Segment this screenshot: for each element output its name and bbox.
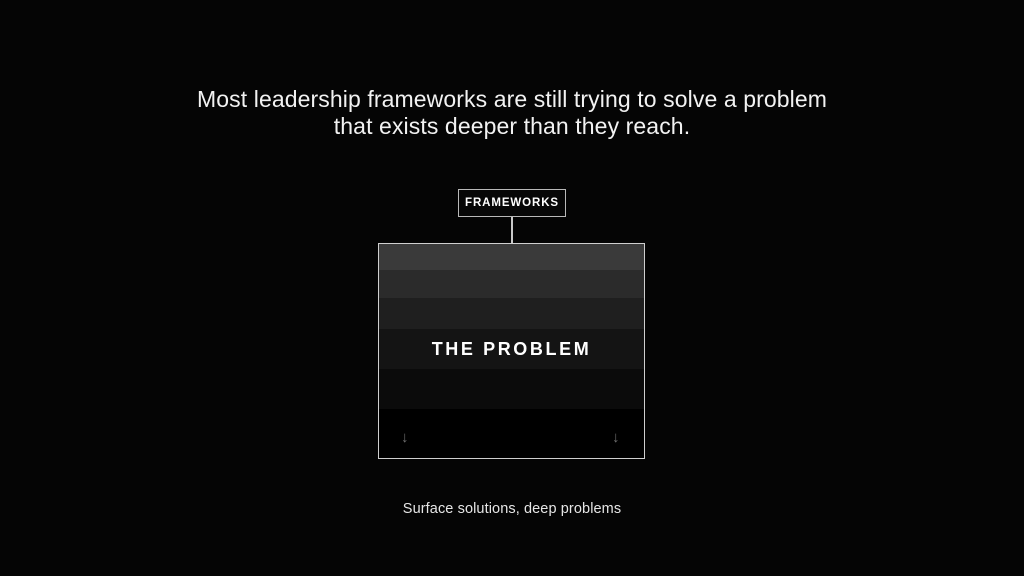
layer-1-surface [379,244,644,270]
depth-arrow-left: ↓ [401,430,409,445]
layer-3 [379,298,644,329]
caption-text: Surface solutions, deep problems [0,501,1024,517]
headline-text: Most leadership frameworks are still try… [0,86,1024,140]
stack-problem-label: THE PROBLEM [379,339,644,360]
callout-label-frameworks: FRAMEWORKS [458,189,566,217]
problem-depth-stack: THE PROBLEM ↓↓ [378,243,645,459]
layer-5 [379,369,644,409]
layer-2 [379,270,644,298]
depth-arrow-right: ↓ [612,430,620,445]
callout-label-text: FRAMEWORKS [465,197,559,209]
layer-6-deepest [379,409,644,458]
